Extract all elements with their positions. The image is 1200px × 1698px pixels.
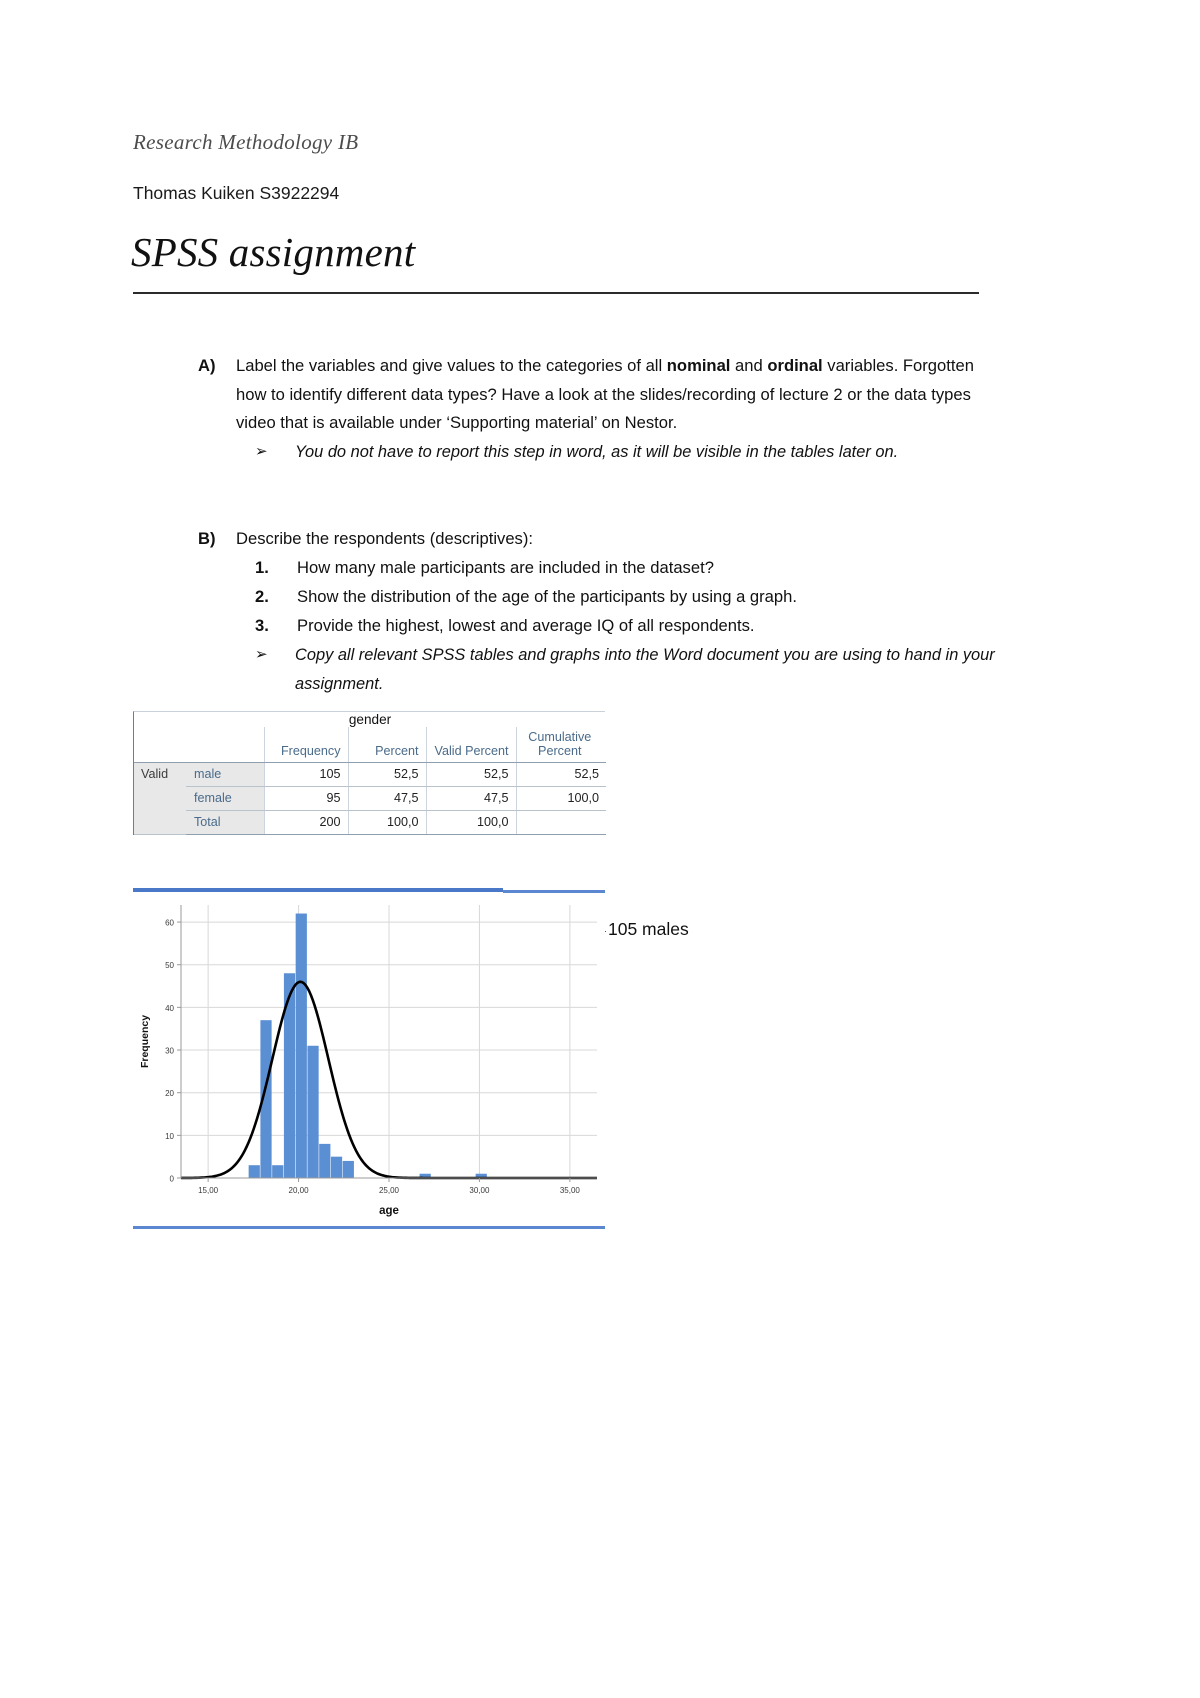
sub-bullet-a: ➢ You do not have to report this step in… [255, 438, 1000, 467]
svg-text:20,00: 20,00 [289, 1186, 310, 1195]
cell-valid-percent-male: 52,5 [426, 763, 516, 787]
arrow-bullet-icon: ➢ [255, 438, 295, 467]
list-marker-b: B) [198, 525, 236, 554]
table-title-row: gender [134, 712, 606, 727]
cell-valid-percent-total: 100,0 [426, 811, 516, 835]
cell-percent-total: 100,0 [348, 811, 426, 835]
sub-bullet-b-text: Copy all relevant SPSS tables and graphs… [295, 641, 1000, 698]
chart-bottom-border [133, 1226, 605, 1229]
svg-text:30,00: 30,00 [469, 1186, 490, 1195]
svg-text:30: 30 [165, 1047, 174, 1056]
list-item-b: B) Describe the respondents (descriptive… [198, 525, 981, 554]
list-marker-a: A) [198, 352, 236, 438]
numbered-marker-1: 1. [255, 554, 297, 583]
text-a-mid: and [730, 356, 767, 375]
svg-text:40: 40 [165, 1004, 174, 1013]
header-cumulative-line2: Percent [538, 744, 581, 758]
header-frequency: Frequency [264, 727, 348, 763]
svg-text:35,00: 35,00 [560, 1186, 581, 1195]
cell-percent-male: 52,5 [348, 763, 426, 787]
text-a-bold-ordinal: ordinal [767, 356, 822, 375]
title-divider [133, 292, 979, 294]
spss-gender-table: gender Frequency Percent Valid Percent C… [133, 711, 605, 835]
cell-cumulative-percent-male: 52,5 [516, 763, 606, 787]
list-text-b: Describe the respondents (descriptives): [236, 525, 981, 554]
table-row: female 95 47,5 47,5 100,0 [134, 787, 606, 811]
cell-cumulative-percent-female: 100,0 [516, 787, 606, 811]
cell-valid-percent-female: 47,5 [426, 787, 516, 811]
sub-bullet-b: ➢ Copy all relevant SPSS tables and grap… [255, 641, 1000, 698]
svg-text:50: 50 [165, 961, 174, 970]
header-percent: Percent [348, 727, 426, 763]
arrow-bullet-icon-b: ➢ [255, 641, 295, 698]
numbered-marker-3: 3. [255, 612, 297, 641]
cell-percent-female: 47,5 [348, 787, 426, 811]
document-page: Research Methodology IB Thomas Kuiken S3… [0, 0, 1200, 1698]
row-category-total: Total [186, 811, 264, 835]
cell-frequency-male: 105 [264, 763, 348, 787]
list-text-a: Label the variables and give values to t… [236, 352, 981, 438]
svg-text:25,00: 25,00 [379, 1186, 400, 1195]
header-valid-percent: Valid Percent [426, 727, 516, 763]
numbered-text-2: Show the distribution of the age of the … [297, 583, 997, 612]
cell-frequency-female: 95 [264, 787, 348, 811]
frequency-table: gender Frequency Percent Valid Percent C… [134, 712, 606, 835]
document-subtitle: Research Methodology IB [133, 130, 358, 155]
numbered-text-3: Provide the highest, lowest and average … [297, 612, 997, 641]
table-row: Valid male 105 52,5 52,5 52,5 [134, 763, 606, 787]
table-title: gender [134, 712, 606, 727]
header-blank-1 [134, 727, 186, 763]
histogram-svg: 010203040506015,0020,0025,0030,0035,00ag… [133, 893, 605, 1226]
svg-text:60: 60 [165, 919, 174, 928]
numbered-marker-2: 2. [255, 583, 297, 612]
header-blank-2 [186, 727, 264, 763]
table-header-row: Frequency Percent Valid Percent Cumulati… [134, 727, 606, 763]
svg-text:10: 10 [165, 1132, 174, 1141]
header-cumulative-percent: Cumulative Percent [516, 727, 606, 763]
age-histogram-chart: 010203040506015,0020,0025,0030,0035,00ag… [133, 888, 605, 1229]
numbered-text-1: How many male participants are included … [297, 554, 997, 583]
svg-text:0: 0 [170, 1175, 175, 1184]
page-title: SPSS assignment [131, 228, 415, 276]
cell-frequency-total: 200 [264, 811, 348, 835]
svg-text:Frequency: Frequency [139, 1015, 151, 1068]
document-author: Thomas Kuiken S3922294 [133, 183, 339, 204]
list-item-a: A) Label the variables and give values t… [198, 352, 981, 438]
table-row: Total 200 100,0 100,0 [134, 811, 606, 835]
annotation-105-males: 105 males [608, 919, 689, 940]
numbered-item-2: 2. Show the distribution of the age of t… [255, 583, 997, 612]
row-group-label-valid: Valid [134, 763, 186, 835]
row-category-male: male [186, 763, 264, 787]
text-a-part1: Label the variables and give values to t… [236, 356, 667, 375]
svg-text:age: age [379, 1205, 399, 1217]
sub-bullet-a-text: You do not have to report this step in w… [295, 438, 1000, 467]
text-a-bold-nominal: nominal [667, 356, 731, 375]
svg-text:20: 20 [165, 1089, 174, 1098]
svg-text:15,00: 15,00 [198, 1186, 219, 1195]
chart-top-border [133, 888, 503, 892]
numbered-item-3: 3. Provide the highest, lowest and avera… [255, 612, 997, 641]
numbered-item-1: 1. How many male participants are includ… [255, 554, 997, 583]
row-category-female: female [186, 787, 264, 811]
header-cumulative-line1: Cumulative [528, 730, 591, 744]
cell-cumulative-percent-total [516, 811, 606, 835]
